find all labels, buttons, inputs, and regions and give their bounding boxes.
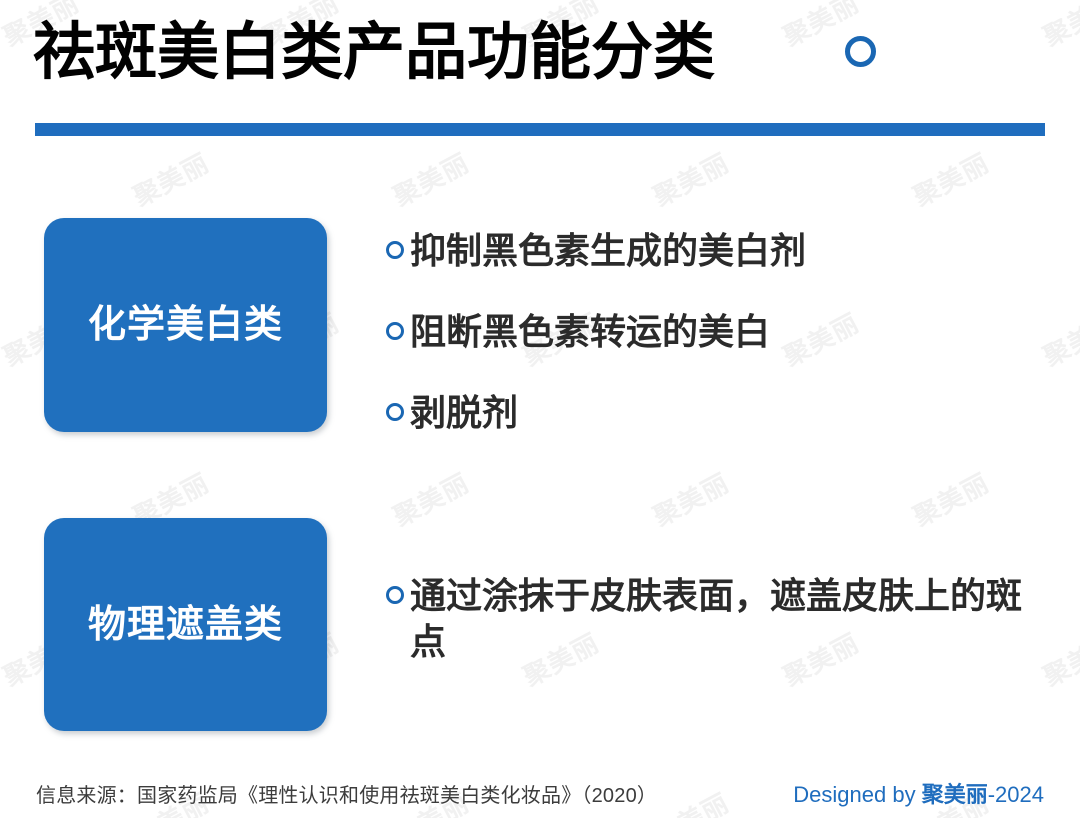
section-physical: 物理遮盖类 通过涂抹于皮肤表面，遮盖皮肤上的斑点 <box>0 518 1080 731</box>
list-item: 抑制黑色素生成的美白剂 <box>386 228 1046 274</box>
watermark-text: 聚美丽 <box>906 143 995 214</box>
bullet-list-physical: 通过涂抹于皮肤表面，遮盖皮肤上的斑点 <box>386 573 1046 665</box>
bullet-ring-icon <box>386 241 404 259</box>
bullet-text: 抑制黑色素生成的美白剂 <box>410 228 806 274</box>
bullet-text: 阻断黑色素转运的美白 <box>410 309 770 355</box>
list-item: 通过涂抹于皮肤表面，遮盖皮肤上的斑点 <box>386 573 1046 665</box>
watermark-text: 聚美丽 <box>646 143 735 214</box>
bullet-list-chemical: 抑制黑色素生成的美白剂 阻断黑色素转运的美白 剥脱剂 <box>386 228 1046 471</box>
slide-header: 祛斑美白类产品功能分类 <box>0 0 1080 150</box>
title-underline-rule <box>35 123 1045 136</box>
watermark-text: 聚美丽 <box>126 143 215 214</box>
list-item: 剥脱剂 <box>386 390 1046 436</box>
designed-by-brand: 聚美丽 <box>922 782 988 807</box>
circle-ring-icon <box>845 36 876 67</box>
slide-canvas: 聚美丽聚美丽聚美丽聚美丽聚美丽聚美丽聚美丽聚美丽聚美丽聚美丽聚美丽聚美丽聚美丽聚… <box>0 0 1080 818</box>
designed-by-suffix: -2024 <box>988 782 1044 807</box>
watermark-text: 聚美丽 <box>386 143 475 214</box>
bullet-text: 通过涂抹于皮肤表面，遮盖皮肤上的斑点 <box>410 573 1046 665</box>
category-label-physical: 物理遮盖类 <box>88 603 283 647</box>
list-item: 阻断黑色素转运的美白 <box>386 309 1046 355</box>
designed-by-prefix: Designed by <box>793 782 921 807</box>
category-box-chemical[interactable]: 化学美白类 <box>44 218 327 432</box>
designed-by-credit: Designed by 聚美丽-2024 <box>793 777 1044 809</box>
category-box-physical[interactable]: 物理遮盖类 <box>44 518 327 731</box>
bullet-ring-icon <box>386 586 404 604</box>
source-note: 信息来源：国家药监局《理性认识和使用祛斑美白类化妆品》（2020） <box>36 779 657 808</box>
section-chemical: 化学美白类 抑制黑色素生成的美白剂 阻断黑色素转运的美白 剥脱剂 <box>0 218 1080 433</box>
bullet-ring-icon <box>386 403 404 421</box>
slide-footer: 信息来源：国家药监局《理性认识和使用祛斑美白类化妆品》（2020） Design… <box>0 775 1080 818</box>
page-title: 祛斑美白类产品功能分类 <box>33 14 715 92</box>
category-label-chemical: 化学美白类 <box>88 303 283 347</box>
bullet-text: 剥脱剂 <box>410 390 518 436</box>
bullet-ring-icon <box>386 322 404 340</box>
